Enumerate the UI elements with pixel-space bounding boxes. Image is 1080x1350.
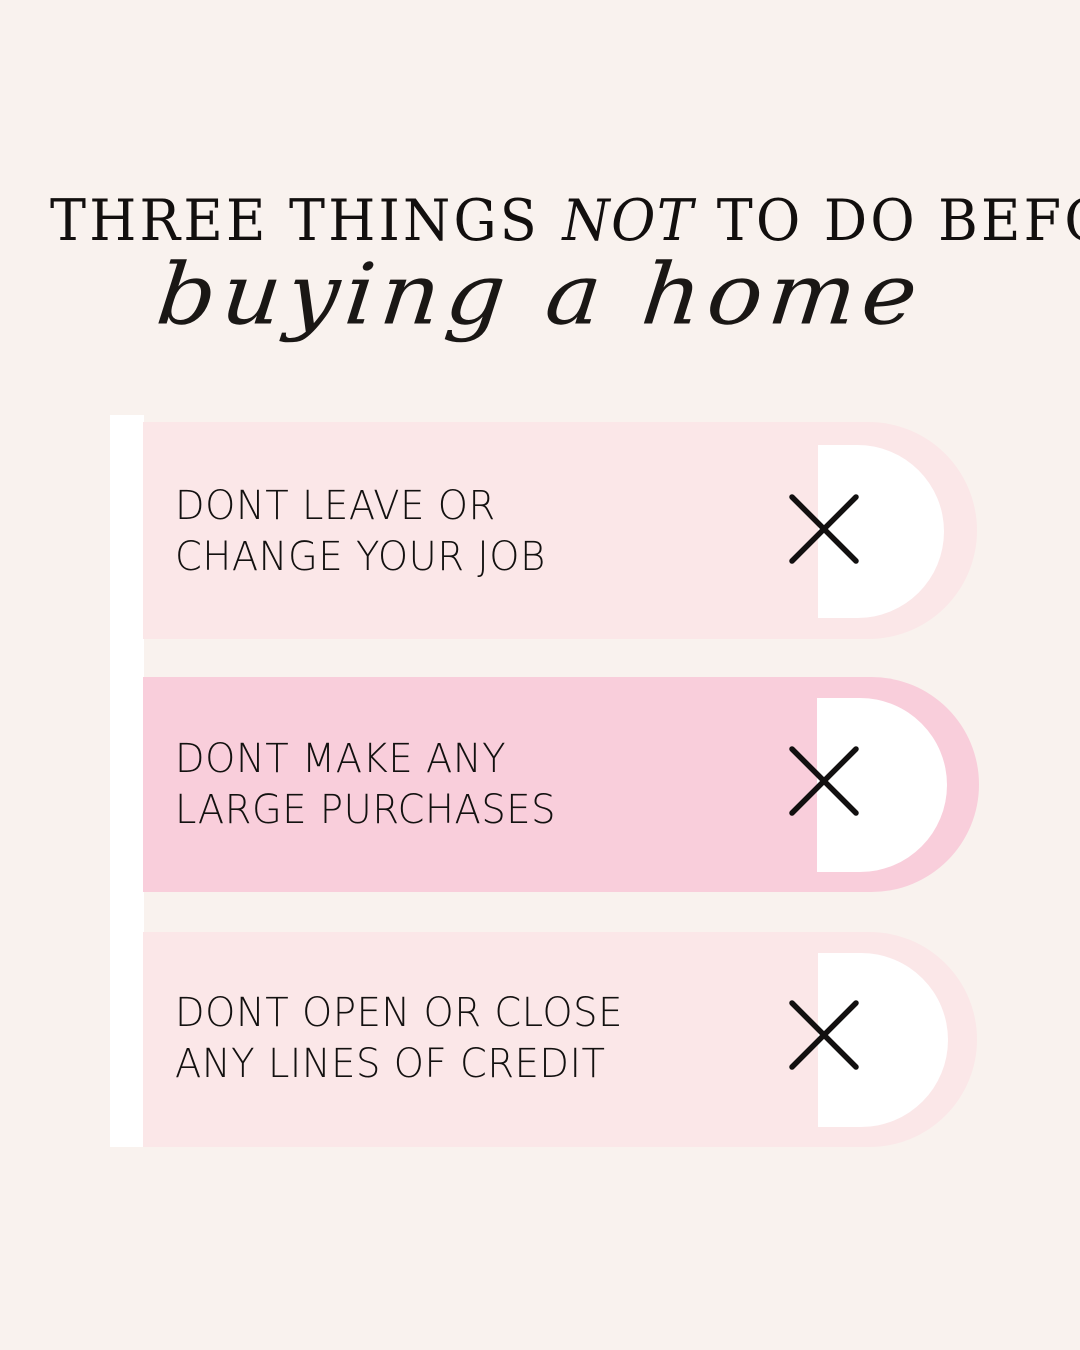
x-mark-icon xyxy=(788,745,860,817)
tip-card-2[interactable]: DONT MAKE ANY LARGE PURCHASES xyxy=(143,677,979,892)
x-mark-icon xyxy=(788,493,860,565)
x-mark-icon xyxy=(788,999,860,1071)
tip-card-3-label: DONT OPEN OR CLOSE ANY LINES OF CREDIT xyxy=(175,988,623,1090)
tip-card-3[interactable]: DONT OPEN OR CLOSE ANY LINES OF CREDIT xyxy=(143,932,977,1147)
white-spine-bar xyxy=(110,415,144,1147)
tip-card-1-label: DONT LEAVE OR CHANGE YOUR JOB xyxy=(175,481,546,583)
tips-list: DONT LEAVE OR CHANGE YOUR JOB DONT MAKE … xyxy=(0,0,1080,1350)
tip-card-2-label: DONT MAKE ANY LARGE PURCHASES xyxy=(175,734,556,836)
tip-card-1[interactable]: DONT LEAVE OR CHANGE YOUR JOB xyxy=(143,422,977,639)
poster-canvas: THREE THINGS NOT TO DO BEFORE buying a h… xyxy=(0,0,1080,1350)
